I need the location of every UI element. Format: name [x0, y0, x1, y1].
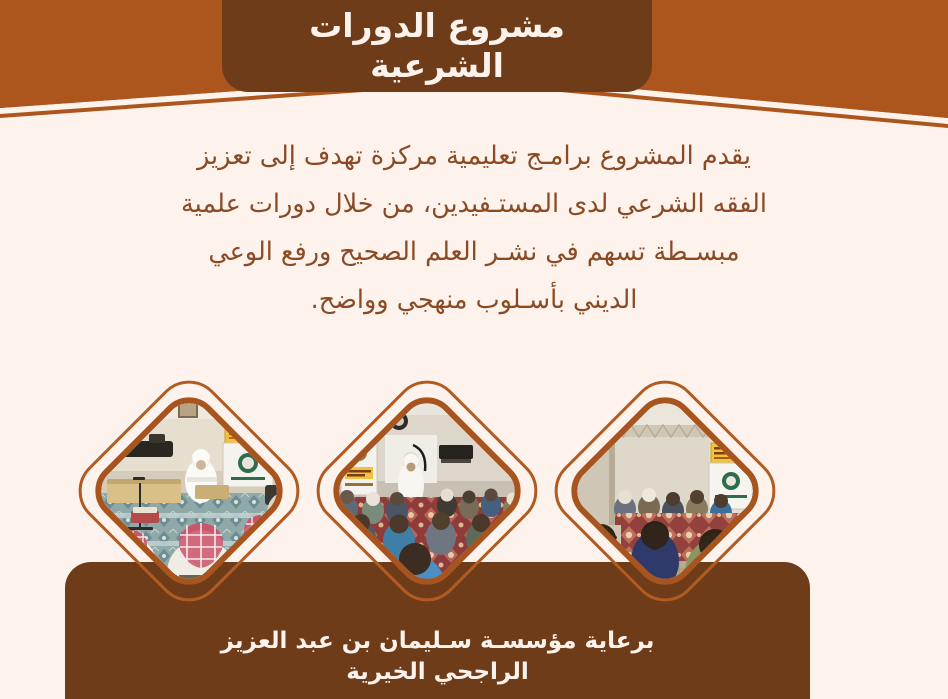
body-line-3: مبسـطة تسهم في نشـر العلم الصحيح ورفع ال…	[84, 228, 864, 276]
photo-gallery	[0, 368, 948, 614]
body-line-1: يقدم المشروع برامـج تعليمية مركزة تهدف إ…	[84, 132, 864, 180]
photo-tile-3	[559, 385, 771, 597]
page-title-line-1: مشروع الدورات	[309, 6, 565, 46]
body-line-4: الديني بأسـلوب منهجي وواضح.	[84, 276, 864, 324]
photo-lecture-hall-blue-carpet	[83, 385, 295, 597]
sponsor-line-1: برعاية مؤسسـة سـليمان بن عبد العزيز	[221, 626, 655, 656]
body-line-2: الفقه الشرعي لدى المستـفيدين، من خلال دو…	[84, 180, 864, 228]
photo-diamond-3	[542, 368, 788, 614]
photo-tile-2	[321, 385, 533, 597]
photo-lecture-hall-red-carpet	[321, 385, 533, 597]
photo-diamond-1	[66, 368, 312, 614]
photo-diamond-2	[304, 368, 550, 614]
title-plaque: مشروع الدورات الشرعية	[222, 0, 652, 92]
photo-attendees-seated	[559, 385, 771, 597]
sponsor-line-2: الراجحي الخيرية	[346, 657, 529, 687]
poster-root: مشروع الدورات الشرعية يقدم المشروع برامـ…	[0, 0, 948, 699]
body-paragraph: يقدم المشروع برامـج تعليمية مركزة تهدف إ…	[84, 132, 864, 324]
page-title-line-2: الشرعية	[370, 46, 504, 86]
photo-tile-1	[83, 385, 295, 597]
